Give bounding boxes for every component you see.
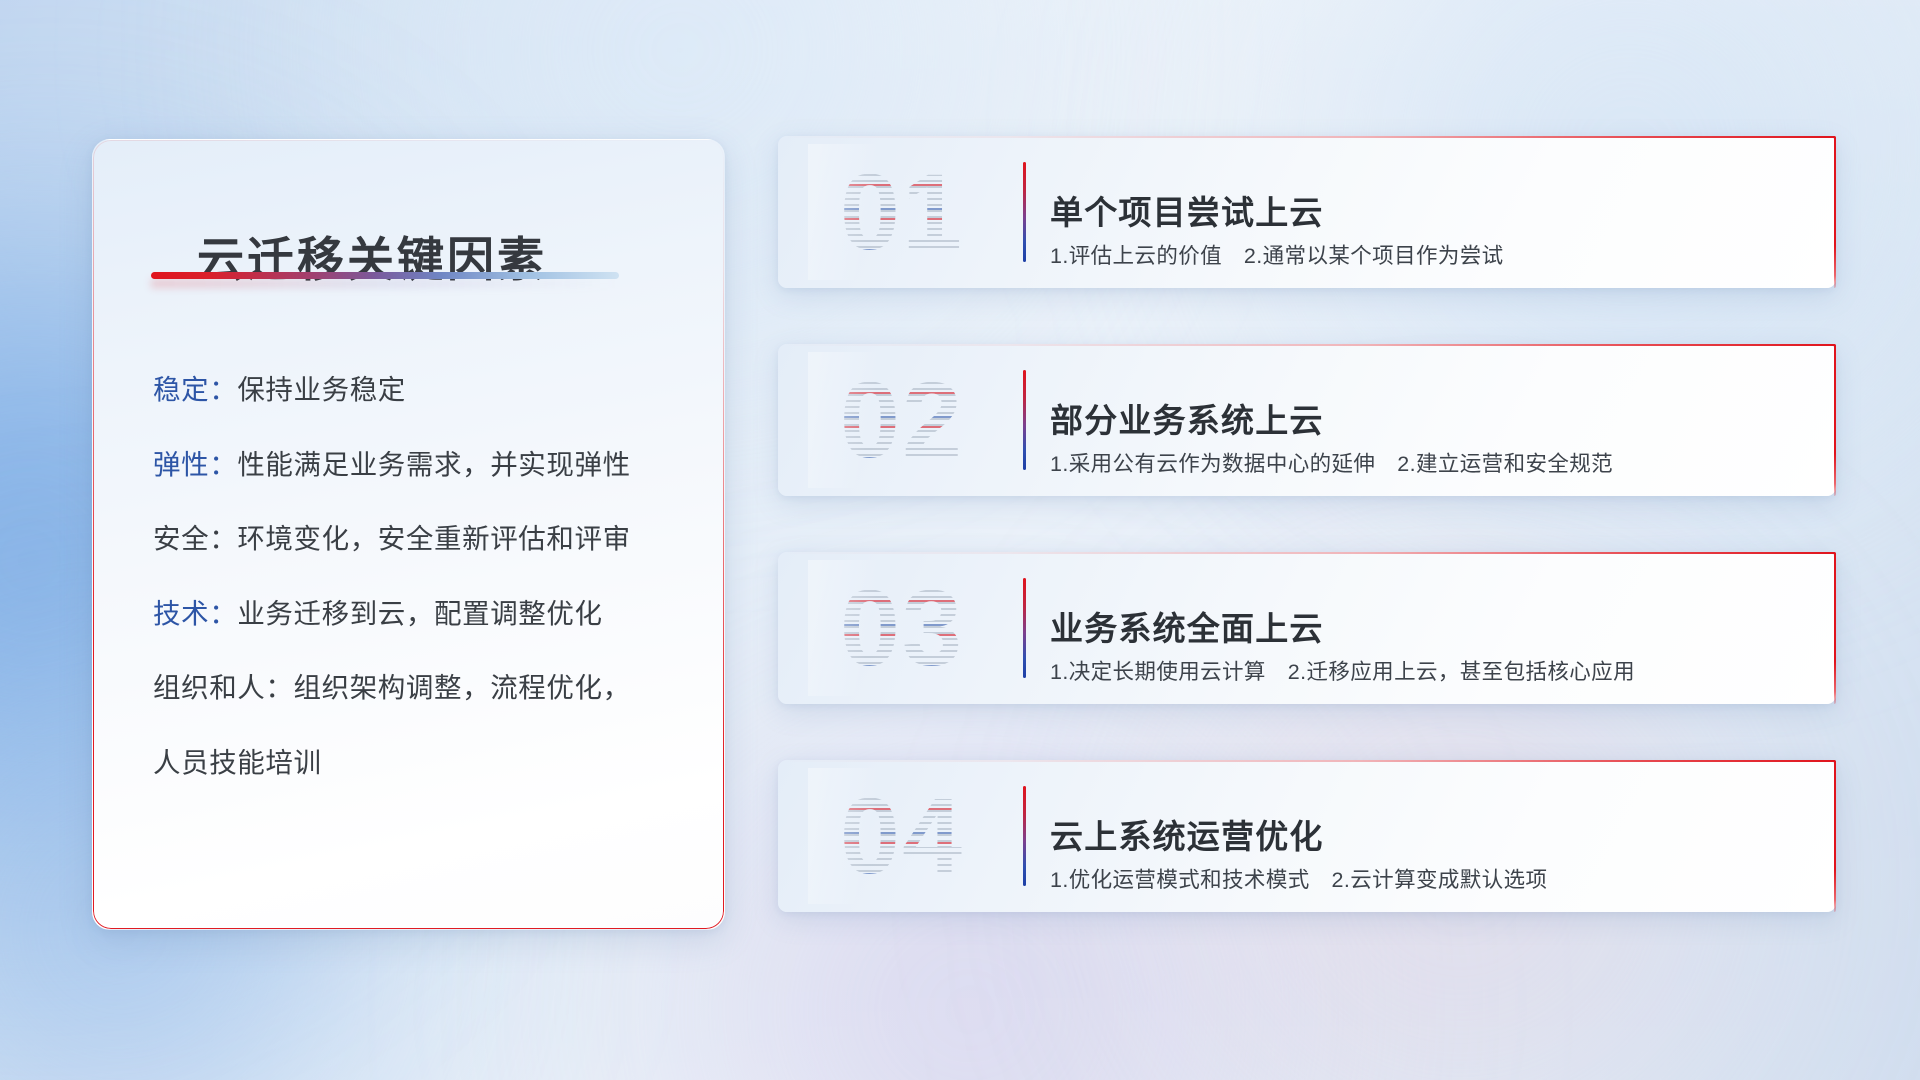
factor-item-continuation: 人员技能培训 (153, 749, 700, 777)
stage-number: 01 (814, 150, 990, 274)
factor-text: 环境变化，安全重新评估和评审 (237, 523, 630, 554)
factor-text: 性能满足业务需求，并实现弹性 (237, 449, 630, 480)
factor-item: 稳定：保持业务稳定 (153, 376, 700, 404)
card-divider-bar (1023, 578, 1026, 678)
stage-card-list: 01 01 单个项目尝试上云 1.评估上云的价值 2.通常以某个项目作为尝试 0… (778, 136, 1836, 912)
card-title: 业务系统全面上云 (1050, 602, 1324, 650)
stage-card[interactable]: 04 04 云上系统运营优化 1.优化运营模式和技术模式 2.云计算变成默认选项 (778, 760, 1836, 912)
stage-number: 04 (814, 774, 990, 898)
factor-text: 人员技能培训 (153, 747, 322, 778)
stage-card[interactable]: 02 02 部分业务系统上云 1.采用公有云作为数据中心的延伸 2.建立运营和安… (778, 344, 1836, 496)
stage-number: 03 (814, 566, 990, 690)
card-title: 部分业务系统上云 (1050, 394, 1324, 442)
card-description: 1.评估上云的价值 2.通常以某个项目作为尝试 (1050, 239, 1504, 270)
factor-item: 组织和人：组织架构调整，流程优化， (153, 674, 700, 702)
card-divider-bar (1023, 162, 1026, 262)
stage-number: 02 (814, 358, 990, 482)
factor-text: 组织架构调整，流程优化， (294, 672, 631, 703)
card-divider-bar (1023, 370, 1026, 470)
factor-item: 技术：业务迁移到云，配置调整优化 (153, 600, 700, 628)
factor-item: 弹性：性能满足业务需求，并实现弹性 (153, 451, 700, 479)
card-title: 云上系统运营优化 (1050, 810, 1324, 858)
card-description: 1.决定长期使用云计算 2.迁移应用上云，甚至包括核心应用 (1050, 655, 1635, 686)
factor-label: 稳定： (153, 374, 237, 405)
card-title: 单个项目尝试上云 (1050, 186, 1324, 234)
factor-text: 业务迁移到云，配置调整优化 (237, 598, 602, 629)
factor-list: 稳定：保持业务稳定 弹性：性能满足业务需求，并实现弹性 安全：环境变化，安全重新… (153, 376, 700, 776)
card-description: 1.采用公有云作为数据中心的延伸 2.建立运营和安全规范 (1050, 447, 1613, 478)
factor-label: 组织和人： (153, 672, 294, 703)
title-rule-shadow (151, 279, 619, 288)
key-factors-panel: 云迁移关键因素 稳定：保持业务稳定 弹性：性能满足业务需求，并实现弹性 安全：环… (92, 139, 725, 930)
factor-label: 技术： (153, 598, 237, 629)
factor-text: 保持业务稳定 (237, 374, 406, 405)
factor-label: 安全： (153, 523, 237, 554)
factor-item: 安全：环境变化，安全重新评估和评审 (153, 525, 700, 553)
slide-stage: 云迁移关键因素 稳定：保持业务稳定 弹性：性能满足业务需求，并实现弹性 安全：环… (0, 0, 1920, 1080)
title-underline-bar (151, 272, 619, 279)
card-divider-bar (1023, 786, 1026, 886)
stage-card[interactable]: 03 03 业务系统全面上云 1.决定长期使用云计算 2.迁移应用上云，甚至包括… (778, 552, 1836, 704)
card-description: 1.优化运营模式和技术模式 2.云计算变成默认选项 (1050, 863, 1547, 894)
stage-card[interactable]: 01 01 单个项目尝试上云 1.评估上云的价值 2.通常以某个项目作为尝试 (778, 136, 1836, 288)
factor-label: 弹性： (153, 449, 237, 480)
